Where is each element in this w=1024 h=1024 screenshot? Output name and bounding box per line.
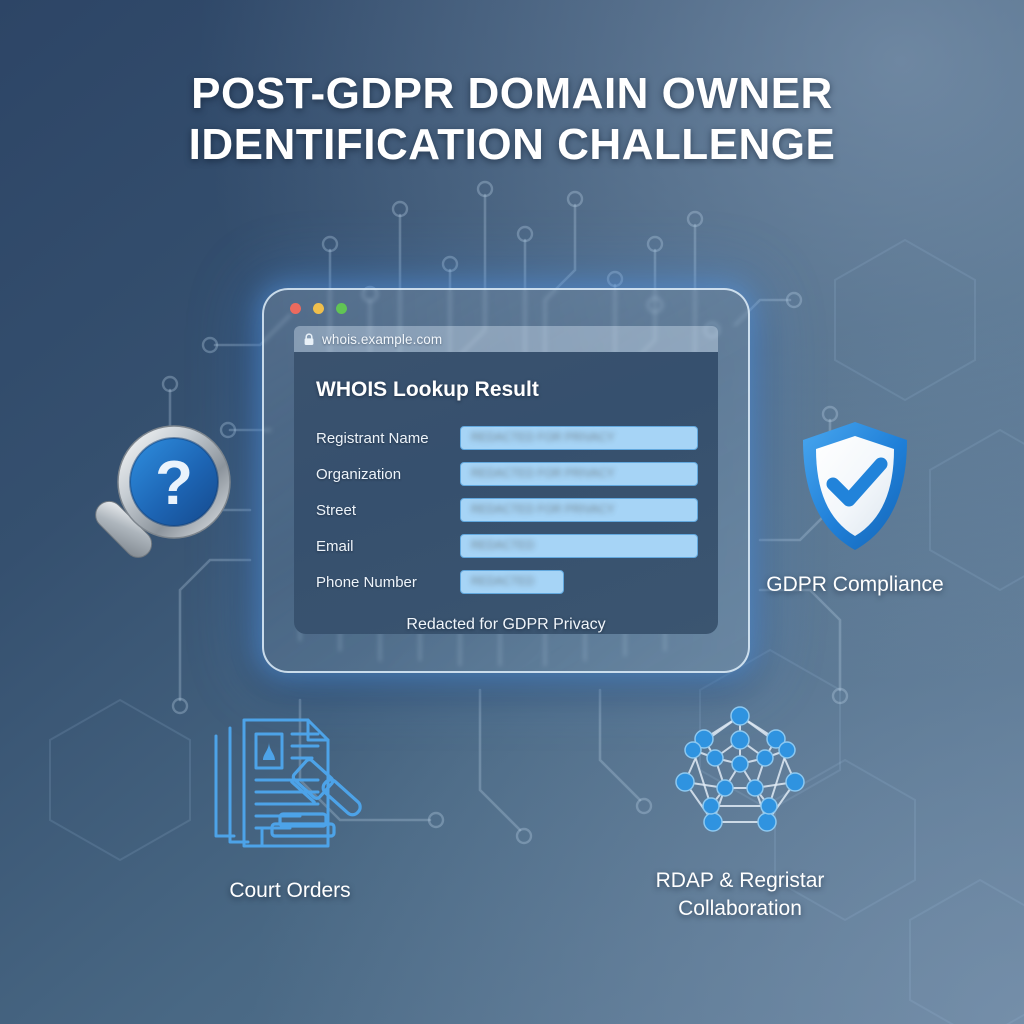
field-label-registrant-name: Registrant Name: [312, 430, 460, 447]
infographic-canvas: POST-GDPR DOMAIN OWNER IDENTIFICATION CH…: [0, 0, 1024, 1024]
field-value-email: REDACTED: [460, 534, 698, 558]
whois-field-row: Phone Number REDACTED: [312, 564, 700, 600]
field-value-organization: REDACTED FOR PRIVACY: [460, 462, 698, 486]
minimize-window-button[interactable]: [313, 303, 324, 314]
redacted-value: REDACTED: [471, 576, 534, 588]
shield-check-icon: [795, 418, 915, 556]
whois-field-row: Email REDACTED: [312, 528, 700, 564]
whois-field-row: Street REDACTED FOR PRIVACY: [312, 492, 700, 528]
window-traffic-lights: [290, 303, 347, 314]
svg-text:?: ?: [155, 449, 193, 518]
field-label-street: Street: [312, 502, 460, 519]
magnifying-glass-question-icon: ?: [76, 412, 256, 592]
document-gavel-icon: [200, 708, 380, 858]
field-label-email: Email: [312, 538, 460, 555]
panel-heading: WHOIS Lookup Result: [316, 378, 700, 402]
whois-field-row: Registrant Name REDACTED FOR PRIVACY: [312, 420, 700, 456]
feature-rdap-collaboration: RDAP & Regristar Collaboration: [620, 700, 860, 923]
page-title-line-2: IDENTIFICATION CHALLENGE: [0, 119, 1024, 170]
page-title: POST-GDPR DOMAIN OWNER IDENTIFICATION CH…: [0, 68, 1024, 170]
field-value-registrant-name: REDACTED FOR PRIVACY: [460, 426, 698, 450]
whois-result-panel: WHOIS Lookup Result Registrant Name REDA…: [294, 352, 718, 634]
feature-label-court-orders: Court Orders: [170, 877, 410, 905]
page-title-line-1: POST-GDPR DOMAIN OWNER: [0, 68, 1024, 119]
redacted-value: REDACTED: [471, 540, 534, 552]
maximize-window-button[interactable]: [336, 303, 347, 314]
feature-court-orders: Court Orders: [170, 708, 410, 905]
field-label-organization: Organization: [312, 466, 460, 483]
whois-field-row: Organization REDACTED FOR PRIVACY: [312, 456, 700, 492]
lock-icon: [303, 333, 315, 346]
redacted-value: REDACTED FOR PRIVACY: [471, 504, 615, 516]
address-bar-url: whois.example.com: [322, 332, 442, 347]
feature-label-gdpr: GDPR Compliance: [730, 571, 980, 599]
field-label-phone-number: Phone Number: [312, 574, 460, 591]
address-bar[interactable]: whois.example.com: [294, 326, 718, 352]
network-nodes-icon: [665, 700, 815, 850]
redacted-value: REDACTED FOR PRIVACY: [471, 468, 615, 480]
gdpr-redaction-notice: Redacted for GDPR Privacy: [312, 616, 700, 634]
redacted-value: REDACTED FOR PRIVACY: [471, 432, 615, 444]
browser-window: whois.example.com WHOIS Lookup Result Re…: [262, 288, 750, 673]
feature-gdpr-compliance: GDPR Compliance: [730, 418, 980, 599]
field-value-phone-number: REDACTED: [460, 570, 564, 594]
field-value-street: REDACTED FOR PRIVACY: [460, 498, 698, 522]
close-window-button[interactable]: [290, 303, 301, 314]
feature-label-rdap: RDAP & Regristar Collaboration: [620, 867, 860, 923]
whois-field-list: Registrant Name REDACTED FOR PRIVACY Org…: [312, 420, 700, 600]
